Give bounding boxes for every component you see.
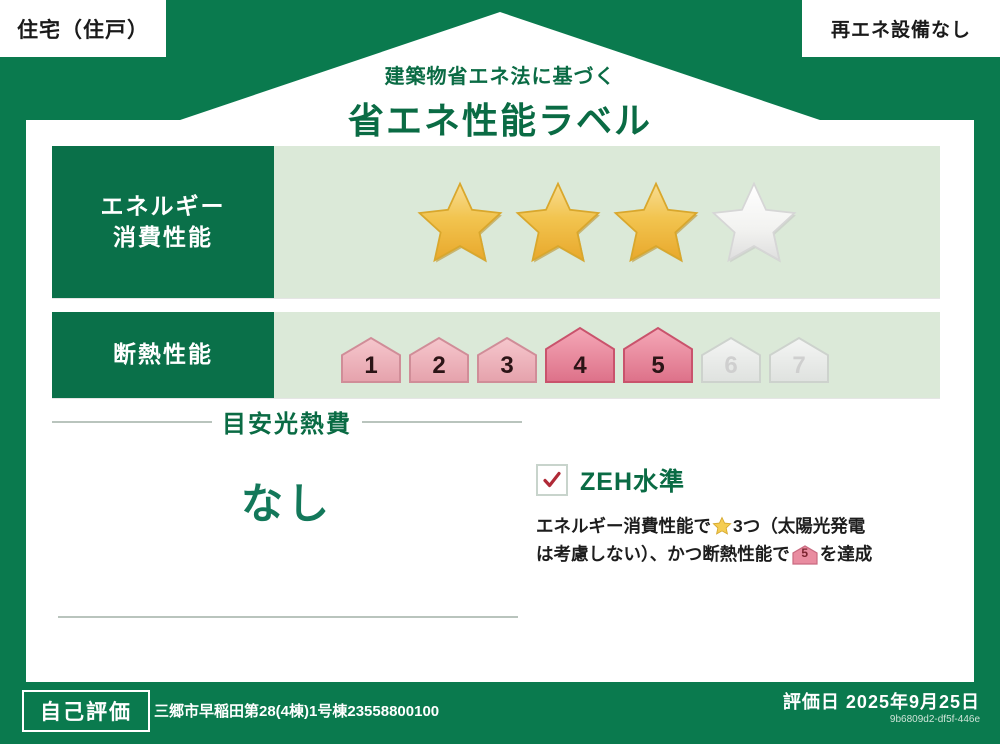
utility-cost-bottom-rule (58, 616, 518, 618)
insulation-level-label-1: 1 (340, 354, 402, 378)
insulation-level-label-7: 7 (768, 354, 830, 378)
utility-cost-heading: 目安光熱費 (52, 404, 522, 439)
evaluation-id: 9b6809d2-df5f-446e (890, 714, 980, 725)
insulation-level-label-3: 3 (476, 354, 538, 378)
star-empty-icon (711, 179, 797, 265)
energy-rating-body (274, 146, 940, 298)
utility-cost-label: 目安光熱費 (222, 404, 352, 439)
badge-renewable-energy: 再エネ設備なし (800, 0, 1000, 59)
energy-heading-line2: 消費性能 (113, 222, 213, 253)
checkbox-checked-icon (536, 464, 568, 496)
zeh-desc-part1: エネルギー消費性能で (536, 516, 711, 536)
divider-right (362, 421, 522, 423)
star-filled-icon (417, 179, 503, 265)
label-footer: 自己評価 三郷市早稲田第28(4棟)1号棟23558800100 評価日 202… (0, 682, 1000, 744)
insulation-level-3: 3 (476, 336, 538, 384)
zeh-title-row: ZEH水準 (536, 462, 946, 498)
energy-performance-label: 住宅（住戸） 再エネ設備なし 建築物省エネ法に基づく 省エネ性能ラベル エネルギ… (0, 0, 1000, 744)
insulation-performance-row: 断熱性能 1234567 (52, 312, 940, 398)
insulation-level-scale: 1234567 (340, 326, 830, 384)
star-rating (417, 179, 797, 265)
star-filled-icon (515, 179, 601, 265)
badge-building-type: 住宅（住戸） (0, 0, 168, 59)
insulation-rating-body: 1234567 (274, 312, 940, 398)
property-address: 三郷市早稲田第28(4棟)1号棟23558800100 (154, 700, 439, 721)
energy-performance-heading: エネルギー 消費性能 (52, 146, 274, 298)
energy-heading-line1: エネルギー (101, 191, 226, 222)
house-badge-inline-number: 5 (792, 547, 818, 559)
insulation-level-label-6: 6 (700, 354, 762, 378)
zeh-description: エネルギー消費性能で 3つ（太陽光発電 は考慮しない）、かつ断熱性能で 5 を達… (536, 512, 946, 569)
star-icon-inline (712, 516, 732, 536)
page-title: 省エネ性能ラベル (0, 92, 1000, 144)
star-filled-icon (613, 179, 699, 265)
insulation-level-5: 5 (622, 326, 694, 384)
zeh-standard-block: ZEH水準 エネルギー消費性能で 3つ（太陽光発電 は考慮しない）、かつ断熱性能… (536, 462, 946, 569)
insulation-level-6: 6 (700, 336, 762, 384)
evaluation-date-value: 2025年9月25日 (846, 692, 980, 712)
insulation-level-1: 1 (340, 336, 402, 384)
insulation-level-7: 7 (768, 336, 830, 384)
insulation-level-label-4: 4 (544, 354, 616, 378)
insulation-level-label-5: 5 (622, 354, 694, 378)
zeh-desc-star-count: 3つ（太陽光発電 (733, 516, 865, 536)
house-badge-inline: 5 (792, 545, 818, 565)
evaluation-date: 評価日 2025年9月25日 (783, 688, 980, 714)
insulation-level-label-2: 2 (408, 354, 470, 378)
zeh-title-label: ZEH水準 (580, 462, 685, 498)
utility-cost-value: なし (52, 470, 522, 531)
insulation-level-4: 4 (544, 326, 616, 384)
zeh-desc-part2: は考慮しない）、かつ断熱性能で (536, 544, 790, 564)
zeh-desc-part3: を達成 (820, 544, 873, 564)
label-subtitle: 建築物省エネ法に基づく (0, 60, 1000, 89)
evaluation-date-label: 評価日 (783, 692, 840, 712)
insulation-heading-label: 断熱性能 (113, 339, 213, 370)
insulation-performance-heading: 断熱性能 (52, 312, 274, 398)
insulation-level-2: 2 (408, 336, 470, 384)
divider-left (52, 421, 212, 423)
energy-performance-row: エネルギー 消費性能 (52, 146, 940, 298)
self-evaluation-badge: 自己評価 (22, 690, 150, 732)
